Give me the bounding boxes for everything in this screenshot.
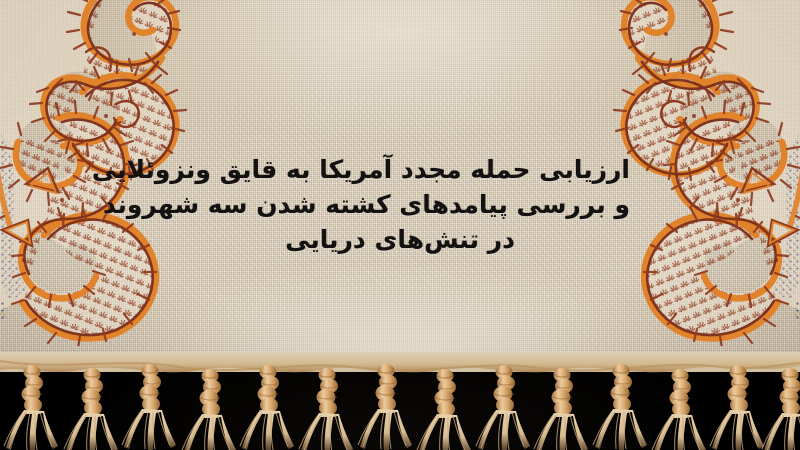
headline-text-block: ارزیابی حمله مجدد آمریکا به قایق ونزوئلا… [170, 152, 630, 257]
tassel-fringe [0, 352, 800, 450]
tassel-row [4, 364, 800, 450]
headline-line-3: در تنش‌های دریایی [170, 222, 630, 257]
title-card-stage: ارزیابی حمله مجدد آمریکا به قایق ونزوئلا… [0, 0, 800, 450]
headline-line-2: و بررسی پیامدهای کشته شدن سه شهروند [170, 187, 630, 222]
headline-line-1: ارزیابی حمله مجدد آمریکا به قایق ونزوئلا… [170, 152, 630, 187]
